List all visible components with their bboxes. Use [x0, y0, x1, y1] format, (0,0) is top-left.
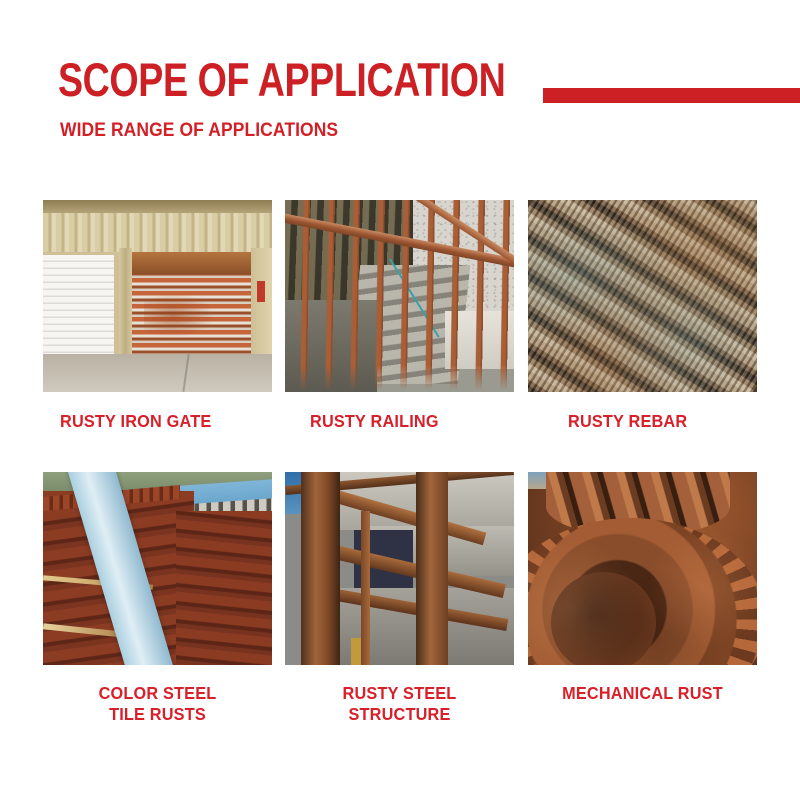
color-steel-tile-rusts-photo	[43, 472, 272, 665]
caption-rusty-iron-gate: RUSTY IRON GATE	[60, 411, 273, 432]
caption-line: RUSTY STEEL	[293, 683, 506, 704]
caption-line: RUSTY RAILING	[310, 411, 523, 432]
caption-line: RUSTY REBAR	[568, 411, 781, 432]
caption-line: COLOR STEEL	[51, 683, 264, 704]
application-card-color-steel-tile-rusts[interactable]	[43, 472, 272, 665]
caption-line: MECHANICAL RUST	[536, 683, 749, 704]
caption-color-steel-tile-rusts: COLOR STEEL TILE RUSTS	[51, 683, 264, 725]
mechanical-rust-photo	[528, 472, 757, 665]
application-card-rusty-railing[interactable]	[285, 200, 514, 392]
application-card-mechanical-rust[interactable]	[528, 472, 757, 665]
application-grid: RUSTY IRON GATE RUSTY RAILING RUSTY REBA…	[0, 0, 800, 800]
rusty-iron-gate-photo	[43, 200, 272, 392]
caption-rusty-rebar: RUSTY REBAR	[568, 411, 781, 432]
application-card-rusty-rebar[interactable]	[528, 200, 757, 392]
application-card-rusty-iron-gate[interactable]	[43, 200, 272, 392]
caption-rusty-steel-structure: RUSTY STEEL STRUCTURE	[293, 683, 506, 725]
caption-line: RUSTY IRON GATE	[60, 411, 273, 432]
rusty-railing-photo	[285, 200, 514, 392]
rusty-steel-structure-photo	[285, 472, 514, 665]
application-card-rusty-steel-structure[interactable]	[285, 472, 514, 665]
rusty-rebar-photo	[528, 200, 757, 392]
caption-line: STRUCTURE	[293, 704, 506, 725]
caption-rusty-railing: RUSTY RAILING	[310, 411, 523, 432]
caption-line: TILE RUSTS	[51, 704, 264, 725]
caption-mechanical-rust: MECHANICAL RUST	[536, 683, 749, 704]
